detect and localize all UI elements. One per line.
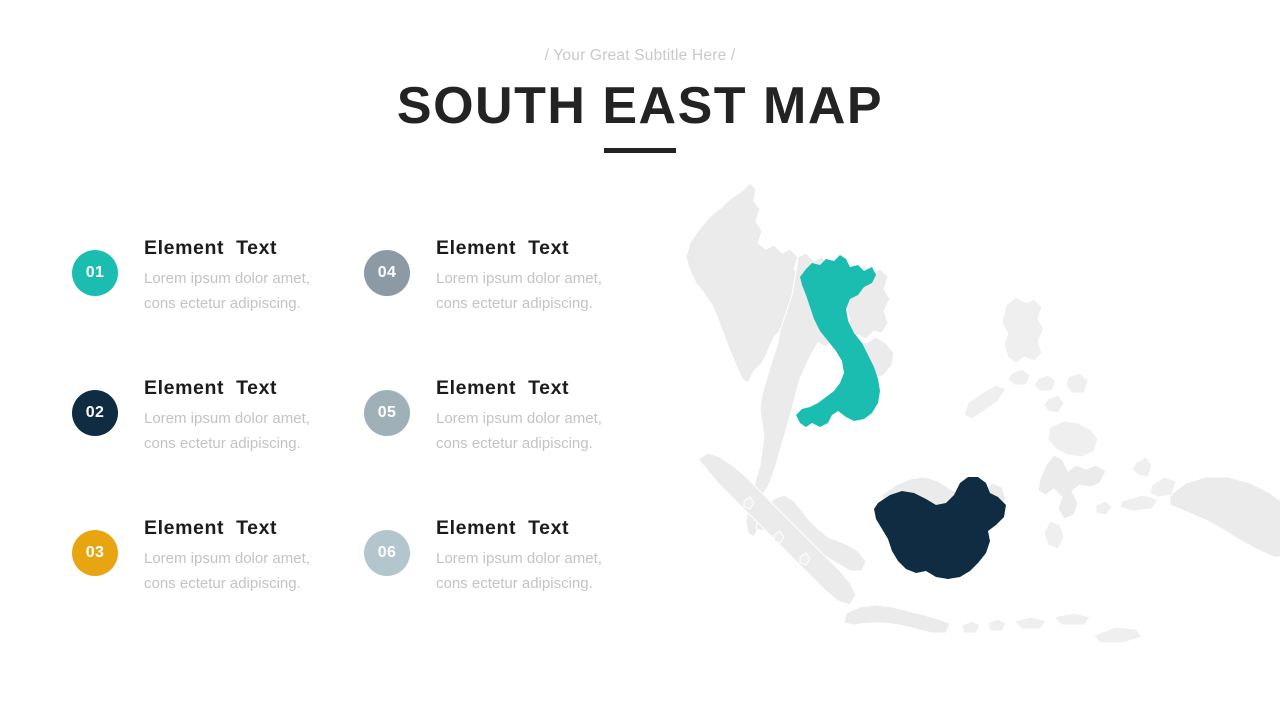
map-region-java[interactable] <box>844 605 950 633</box>
element-list: 01 Element Text Lorem ipsum dolor amet, … <box>72 228 672 648</box>
map-region-lombok <box>988 619 1006 631</box>
map-region-sulawesi-south-arm <box>1044 521 1064 549</box>
map-region-mindoro <box>1008 369 1030 385</box>
map-region-flores <box>1054 613 1090 625</box>
map-region-sumatra[interactable] <box>698 453 856 605</box>
item-number-badge: 03 <box>72 530 118 576</box>
item-title: Element Text <box>436 236 602 261</box>
item-text-block: Element Text Lorem ipsum dolor amet, con… <box>436 508 602 596</box>
item-description: Lorem ipsum dolor amet, cons ectetur adi… <box>144 541 310 596</box>
list-item[interactable]: 02 Element Text Lorem ipsum dolor amet, … <box>72 368 364 508</box>
item-description: Lorem ipsum dolor amet, cons ectetur adi… <box>436 401 602 456</box>
map-region-luzon[interactable] <box>1002 297 1044 363</box>
item-text-block: Element Text Lorem ipsum dolor amet, con… <box>436 228 602 316</box>
item-text-block: Element Text Lorem ipsum dolor amet, con… <box>144 508 310 596</box>
item-title: Element Text <box>436 376 602 401</box>
item-number-badge: 06 <box>364 530 410 576</box>
map-region-negros <box>1044 395 1064 413</box>
map-region-seram <box>1120 495 1158 511</box>
item-text-block: Element Text Lorem ipsum dolor amet, con… <box>144 228 310 316</box>
item-text-block: Element Text Lorem ipsum dolor amet, con… <box>436 368 602 456</box>
slide-subtitle: / Your Great Subtitle Here / <box>0 0 1280 67</box>
map-region-bali <box>962 621 980 633</box>
list-item[interactable]: 05 Element Text Lorem ipsum dolor amet, … <box>364 368 656 508</box>
item-title: Element Text <box>144 516 310 541</box>
list-item[interactable]: 03 Element Text Lorem ipsum dolor amet, … <box>72 508 364 648</box>
item-number-badge: 02 <box>72 390 118 436</box>
item-text-block: Element Text Lorem ipsum dolor amet, con… <box>144 368 310 456</box>
slide-header: / Your Great Subtitle Here / SOUTH EAST … <box>0 0 1280 153</box>
map-region-sumbawa <box>1014 617 1046 629</box>
item-description: Lorem ipsum dolor amet, cons ectetur adi… <box>144 261 310 316</box>
map-region-mindanao[interactable] <box>1048 421 1098 457</box>
list-item[interactable]: 06 Element Text Lorem ipsum dolor amet, … <box>364 508 656 648</box>
item-number-badge: 01 <box>72 250 118 296</box>
item-description: Lorem ipsum dolor amet, cons ectetur adi… <box>436 261 602 316</box>
map-region-halmahera <box>1132 457 1152 477</box>
item-title: Element Text <box>144 236 310 261</box>
southeast-asia-map <box>650 165 1280 705</box>
map-region-birds-head-papua <box>1150 477 1176 497</box>
map-region-panay <box>1034 375 1056 391</box>
item-number-badge: 05 <box>364 390 410 436</box>
item-title: Element Text <box>144 376 310 401</box>
list-item[interactable]: 01 Element Text Lorem ipsum dolor amet, … <box>72 228 364 368</box>
map-region-timor <box>1094 627 1142 643</box>
item-title: Element Text <box>436 516 602 541</box>
map-region-palawan <box>964 385 1006 419</box>
map-region-papua[interactable] <box>1170 477 1280 557</box>
page-title: SOUTH EAST MAP <box>0 67 1280 137</box>
item-description: Lorem ipsum dolor amet, cons ectetur adi… <box>144 401 310 456</box>
item-description: Lorem ipsum dolor amet, cons ectetur adi… <box>436 541 602 596</box>
map-region-buru <box>1096 501 1112 515</box>
map-region-samar-leyte <box>1066 373 1088 393</box>
list-item[interactable]: 04 Element Text Lorem ipsum dolor amet, … <box>364 228 656 368</box>
item-number-badge: 04 <box>364 250 410 296</box>
title-underline <box>604 148 676 153</box>
